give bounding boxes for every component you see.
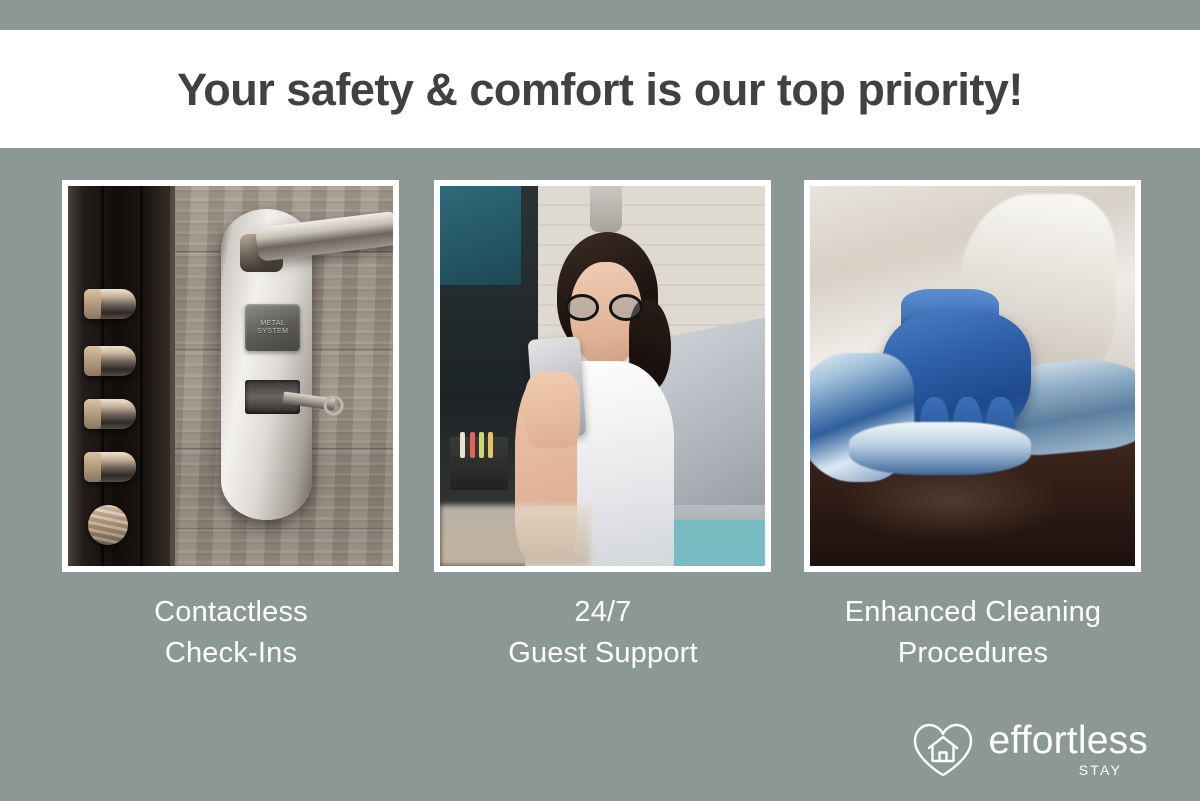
feature-card-contactless: METAL SYSTEM [62,180,399,572]
brand-logo: effortless STAY [911,721,1148,779]
logo-tagline: STAY [1079,762,1122,778]
heart-house-icon [911,721,975,779]
feature-card-cleaning [804,180,1141,572]
top-accent-band [0,0,1200,30]
deadbolt [84,452,136,482]
guest-support-photo [440,186,765,566]
door-dark-panel [68,186,179,566]
pen [460,432,465,458]
foreground-blur [440,505,590,566]
page-title: Your safety & comfort is our top priorit… [177,67,1023,112]
caption-cleaning: Enhanced Cleaning Procedures [783,592,1163,674]
poster: Your safety & comfort is our top priorit… [0,0,1200,801]
feature-cards: METAL SYSTEM [0,180,1200,572]
caption-support: 24/7 Guest Support [413,592,793,674]
metal-system-plate: METAL SYSTEM [245,304,300,352]
logo-wordmark: effortless [988,722,1148,759]
cleaning-photo [810,186,1135,566]
pendant-lamp [590,186,623,232]
desk-organizer [450,437,509,490]
pen [479,432,484,458]
feature-card-support [434,180,771,572]
deadbolt [84,289,136,319]
deadbolt [84,399,136,429]
teal-cabinet [440,186,521,285]
pen [488,432,493,458]
door-seam [140,186,143,566]
headline-bar: Your safety & comfort is our top priorit… [0,30,1200,148]
deadbolt [84,346,136,376]
logo-text: effortless STAY [988,722,1148,778]
door-lock-photo: METAL SYSTEM [68,186,393,566]
feature-captions: Contactless Check-Ins 24/7 Guest Support… [0,592,1200,692]
lock-plate-line-1: METAL [260,320,285,327]
caption-contactless: Contactless Check-Ins [41,592,421,674]
cleaning-cloth-front [849,422,1031,475]
hand [525,372,580,448]
lock-plate-line-2: SYSTEM [257,328,288,335]
wood-groove [175,528,393,531]
round-bolt [88,505,128,545]
pen [470,432,475,458]
eyeglasses [565,294,643,321]
